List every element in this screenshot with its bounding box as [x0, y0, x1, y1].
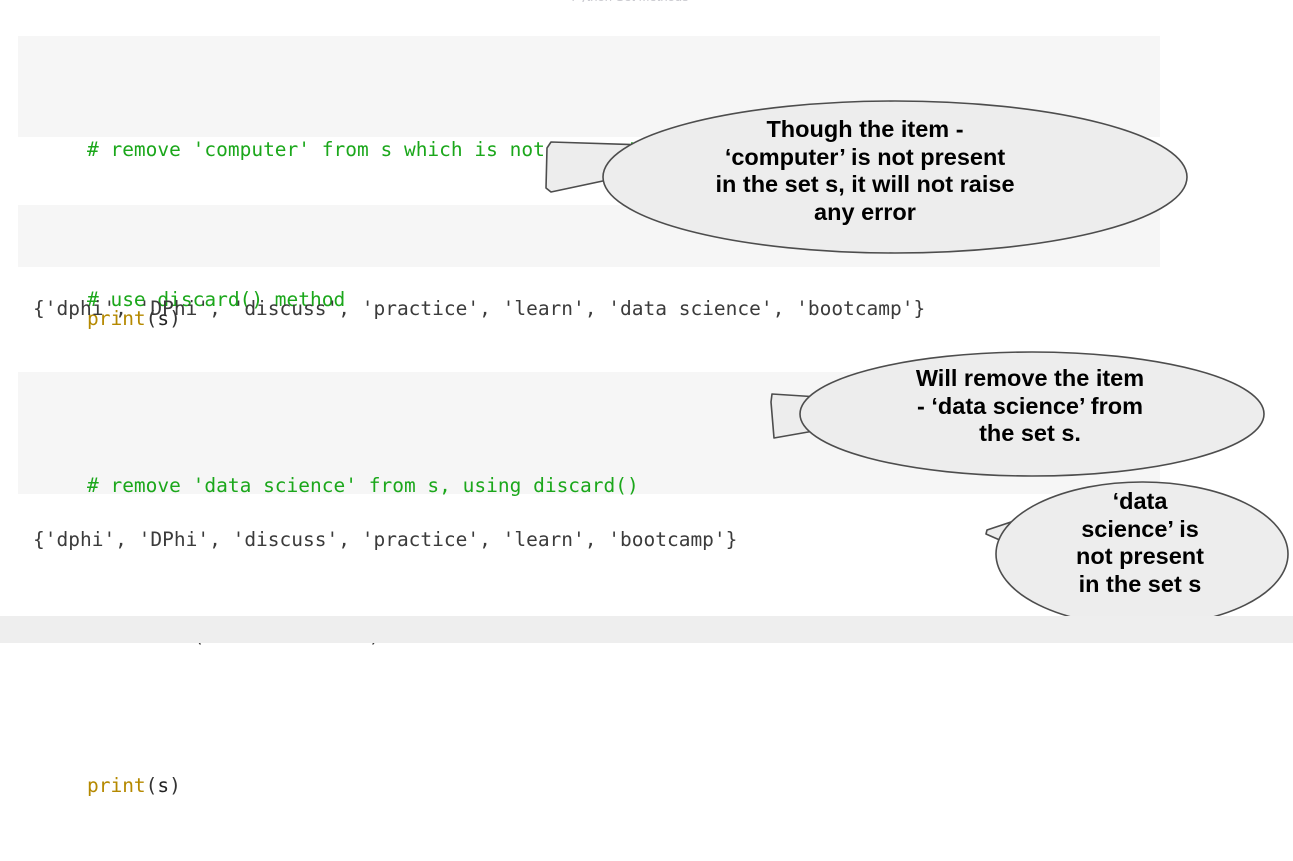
callout-bubble-remove-data-science: Will remove the item - ‘data science’ fr…: [770, 352, 1290, 482]
code-token-comment: # remove 'data science' from s, using di…: [87, 474, 639, 497]
code-token-name: s: [157, 774, 169, 797]
code-line: print(s): [40, 741, 1146, 831]
callout-text-1: Though the item - ‘computer’ is not pres…: [650, 116, 1080, 227]
output-line-1: {'dphi', 'DPhi', 'discuss', 'practice', …: [33, 296, 925, 322]
output-line-2: {'dphi', 'DPhi', 'discuss', 'practice', …: [33, 527, 737, 553]
callout-bubble-discard-computer: Though the item - ‘computer’ is not pres…: [545, 100, 1190, 255]
code-token-paren: ): [169, 774, 181, 797]
callout-text-2: Will remove the item - ‘data science’ fr…: [865, 365, 1195, 448]
code-token-builtin: print: [87, 774, 146, 797]
callout-text-3: ‘data science’ is not present in the set…: [1045, 488, 1235, 599]
code-token-paren: (: [146, 774, 158, 797]
clipped-top-text: Python Set Methods: [480, 0, 780, 2]
bottom-bar: [0, 616, 1293, 643]
